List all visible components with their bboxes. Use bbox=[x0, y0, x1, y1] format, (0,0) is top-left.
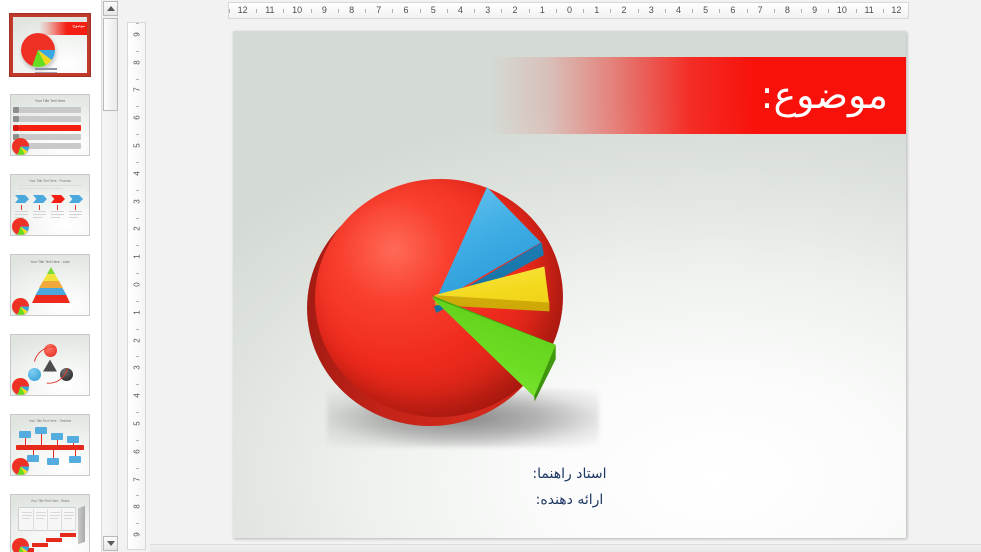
thumb1-title-text: موضوع: bbox=[72, 23, 85, 28]
vertical-ruler[interactable]: 9876543210123456789 bbox=[127, 22, 146, 550]
h-ruler-tick-13 bbox=[583, 9, 584, 13]
h-ruler-tick-8 bbox=[447, 9, 448, 13]
h-ruler-tick-24 bbox=[883, 9, 884, 13]
thumb7-step-4 bbox=[60, 531, 76, 537]
slide-title-text[interactable]: موضوع: bbox=[761, 73, 888, 117]
v-ruler-label-0: 9 bbox=[128, 30, 146, 39]
h-ruler-tick-4 bbox=[338, 9, 339, 13]
v-ruler-tick-0 bbox=[136, 23, 139, 24]
v-ruler-label-6: 3 bbox=[128, 197, 146, 206]
v-ruler-tick-6 bbox=[136, 190, 139, 191]
h-ruler-tick-3 bbox=[311, 9, 312, 13]
current-slide-canvas[interactable]: موضوع: استاد راهنما: ارائه دهنده: bbox=[233, 31, 906, 538]
thumb7-col-4 bbox=[62, 509, 76, 531]
v-ruler-label-11: 2 bbox=[128, 336, 146, 345]
slide-thumbnail-5[interactable] bbox=[10, 334, 90, 396]
h-ruler-label-7: 5 bbox=[424, 5, 442, 15]
v-ruler-tick-9 bbox=[136, 273, 139, 274]
v-ruler-label-9: 0 bbox=[128, 280, 146, 289]
v-ruler-label-4: 5 bbox=[128, 141, 146, 150]
h-ruler-label-1: 11 bbox=[261, 5, 279, 15]
scroll-up-button[interactable] bbox=[103, 1, 118, 16]
v-ruler-tick-4 bbox=[136, 134, 139, 135]
h-ruler-label-11: 1 bbox=[533, 5, 551, 15]
v-ruler-tick-7 bbox=[136, 218, 139, 219]
h-ruler-tick-21 bbox=[801, 9, 802, 13]
thumb4-band-1 bbox=[47, 267, 55, 274]
thumb6-box-7 bbox=[69, 456, 81, 463]
h-ruler-tick-5 bbox=[365, 9, 366, 13]
v-ruler-label-13: 4 bbox=[128, 391, 146, 400]
thumb4-band-3 bbox=[39, 281, 63, 288]
thumb3-caption-4 bbox=[69, 211, 82, 220]
thumb7-side-wall bbox=[78, 506, 85, 545]
thumb3-subtext bbox=[18, 185, 82, 189]
thumb6-stem-7 bbox=[75, 450, 76, 456]
thumb2-logo-pie-icon bbox=[12, 138, 29, 155]
slide-editing-area[interactable]: موضوع: استاد راهنما: ارائه دهنده: bbox=[150, 22, 981, 552]
h-ruler-label-6: 6 bbox=[397, 5, 415, 15]
v-ruler-tick-17 bbox=[136, 495, 139, 496]
slide-thumbnail-1[interactable]: موضوع: bbox=[10, 14, 90, 76]
slide-thumbnail-4[interactable]: Your Title Text Here - Lists bbox=[10, 254, 90, 316]
v-ruler-tick-5 bbox=[136, 162, 139, 163]
thumb6-logo-pie-icon bbox=[12, 458, 29, 475]
thumb7-col-3 bbox=[48, 509, 62, 531]
scroll-down-button[interactable] bbox=[103, 536, 118, 551]
h-ruler-tick-0 bbox=[229, 9, 230, 13]
thumb6-stem-1 bbox=[25, 438, 26, 445]
v-ruler-label-12: 3 bbox=[128, 363, 146, 372]
slide-thumbnail-3[interactable]: Your Title Text Here - Process bbox=[10, 174, 90, 236]
h-ruler-label-21: 9 bbox=[806, 5, 824, 15]
h-ruler-tick-16 bbox=[665, 9, 666, 13]
thumb6-box-4 bbox=[67, 436, 79, 443]
v-ruler-label-17: 8 bbox=[128, 502, 146, 511]
slide-thumbnail-2[interactable]: Your Title Text Here bbox=[10, 94, 90, 156]
h-ruler-label-12: 0 bbox=[561, 5, 579, 15]
thumb1-title-banner: موضوع: bbox=[39, 22, 87, 35]
v-ruler-label-15: 6 bbox=[128, 447, 146, 456]
h-ruler-tick-19 bbox=[747, 9, 748, 13]
v-ruler-label-16: 7 bbox=[128, 475, 146, 484]
v-ruler-label-18: 9 bbox=[128, 530, 146, 539]
v-ruler-tick-12 bbox=[136, 356, 139, 357]
h-ruler-label-10: 2 bbox=[506, 5, 524, 15]
thumb6-title: Your Title Text Here - Timeline bbox=[11, 419, 89, 423]
h-ruler-label-8: 4 bbox=[452, 5, 470, 15]
h-ruler-label-19: 7 bbox=[751, 5, 769, 15]
chevron-up-icon bbox=[107, 6, 115, 11]
h-ruler-tick-12 bbox=[556, 9, 557, 13]
slide-credits-block[interactable]: استاد راهنما: ارائه دهنده: bbox=[233, 461, 906, 513]
horizontal-ruler[interactable]: 1211109876543210123456789101112 bbox=[228, 2, 909, 19]
v-ruler-tick-13 bbox=[136, 384, 139, 385]
thumb6-box-3 bbox=[51, 433, 63, 440]
thumb4-band-2 bbox=[43, 274, 59, 281]
v-ruler-label-8: 1 bbox=[128, 252, 146, 261]
thumb7-text-panel bbox=[18, 507, 76, 531]
h-ruler-label-14: 2 bbox=[615, 5, 633, 15]
thumb7-col-2 bbox=[34, 509, 48, 531]
credit-presenter[interactable]: ارائه دهنده: bbox=[233, 487, 906, 513]
h-ruler-label-17: 5 bbox=[697, 5, 715, 15]
thumb6-box-1 bbox=[19, 431, 31, 438]
thumb6-timeline-spine bbox=[16, 445, 84, 450]
chevron-down-icon bbox=[107, 541, 115, 546]
v-ruler-tick-1 bbox=[136, 51, 139, 52]
h-ruler-tick-17 bbox=[692, 9, 693, 13]
thumb6-box-2 bbox=[35, 427, 47, 434]
v-ruler-label-1: 8 bbox=[128, 58, 146, 67]
thumb7-logo-pie-icon bbox=[12, 538, 29, 552]
h-ruler-label-16: 4 bbox=[669, 5, 687, 15]
h-ruler-tick-15 bbox=[638, 9, 639, 13]
v-ruler-label-10: 1 bbox=[128, 308, 146, 317]
thumb6-stem-3 bbox=[57, 440, 58, 445]
slide-thumbnail-7[interactable]: Your Title Text Here - Stairs bbox=[10, 494, 90, 552]
credit-supervisor[interactable]: استاد راهنما: bbox=[233, 461, 906, 487]
v-ruler-label-2: 7 bbox=[128, 85, 146, 94]
scrollbar-thumb[interactable] bbox=[103, 18, 118, 111]
thumb3-caption-3 bbox=[51, 211, 64, 220]
h-ruler-tick-10 bbox=[501, 9, 502, 13]
thumb4-title: Your Title Text Here - Lists bbox=[11, 260, 89, 264]
thumb6-box-5 bbox=[27, 455, 39, 462]
v-ruler-tick-15 bbox=[136, 440, 139, 441]
h-ruler-tick-23 bbox=[856, 9, 857, 13]
h-ruler-tick-1 bbox=[256, 9, 257, 13]
h-ruler-tick-20 bbox=[774, 9, 775, 13]
scrollbar-track[interactable] bbox=[103, 112, 116, 535]
v-ruler-label-3: 6 bbox=[128, 113, 146, 122]
h-ruler-label-18: 6 bbox=[724, 5, 742, 15]
h-ruler-label-20: 8 bbox=[778, 5, 796, 15]
thumb7-col-1 bbox=[20, 509, 34, 531]
h-ruler-tick-7 bbox=[420, 9, 421, 13]
thumb2-row-1 bbox=[19, 107, 81, 113]
h-ruler-label-22: 10 bbox=[833, 5, 851, 15]
thumbnail-pane-scrollbar[interactable] bbox=[101, 0, 118, 552]
h-ruler-tick-22 bbox=[828, 9, 829, 13]
thumb1-credit-line-2 bbox=[35, 72, 57, 74]
slide-title-banner[interactable]: موضوع: bbox=[490, 57, 906, 134]
thumb4-band-4 bbox=[36, 288, 67, 295]
thumb4-logo-pie-icon bbox=[12, 298, 29, 315]
thumb3-tick-3 bbox=[57, 205, 58, 210]
thumb3-tick-1 bbox=[21, 205, 22, 210]
thumb2-title: Your Title Text Here bbox=[11, 99, 89, 103]
thumb6-stem-4 bbox=[73, 443, 74, 445]
thumb1-pie-chart bbox=[21, 33, 55, 67]
thumb3-tick-2 bbox=[39, 205, 40, 210]
thumb3-caption-2 bbox=[33, 211, 46, 220]
thumb1-credit-line-1 bbox=[35, 68, 57, 70]
h-ruler-tick-18 bbox=[719, 9, 720, 13]
slide-thumbnail-6[interactable]: Your Title Text Here - Timeline bbox=[10, 414, 90, 476]
v-ruler-tick-18 bbox=[136, 523, 139, 524]
h-ruler-label-2: 10 bbox=[288, 5, 306, 15]
thumb2-row-4 bbox=[19, 134, 81, 140]
v-ruler-label-5: 4 bbox=[128, 169, 146, 178]
h-ruler-label-3: 9 bbox=[315, 5, 333, 15]
v-ruler-tick-8 bbox=[136, 245, 139, 246]
v-ruler-label-7: 2 bbox=[128, 224, 146, 233]
powerpoint-editor-window: موضوع: Your Title Text Here bbox=[0, 0, 981, 552]
pie-chart-graphic[interactable] bbox=[309, 153, 614, 453]
thumb4-pyramid bbox=[33, 267, 69, 305]
h-ruler-label-24: 12 bbox=[887, 5, 905, 15]
v-ruler-tick-3 bbox=[136, 106, 139, 107]
thumb3-logo-pie-icon bbox=[12, 218, 29, 235]
thumb7-title: Your Title Text Here - Stairs bbox=[11, 499, 89, 503]
h-ruler-label-13: 1 bbox=[588, 5, 606, 15]
workspace-bottom-strip bbox=[150, 544, 981, 552]
h-ruler-tick-9 bbox=[474, 9, 475, 13]
thumb3-tick-4 bbox=[75, 205, 76, 210]
thumb6-stem-5 bbox=[33, 450, 34, 455]
v-ruler-tick-10 bbox=[136, 301, 139, 302]
h-ruler-label-15: 3 bbox=[642, 5, 660, 15]
v-ruler-tick-11 bbox=[136, 329, 139, 330]
v-ruler-tick-2 bbox=[136, 79, 139, 80]
slide-thumbnail-pane[interactable]: موضوع: Your Title Text Here bbox=[0, 0, 101, 552]
h-ruler-label-5: 7 bbox=[370, 5, 388, 15]
h-ruler-label-0: 12 bbox=[234, 5, 252, 15]
v-ruler-label-14: 5 bbox=[128, 419, 146, 428]
thumb2-row-2 bbox=[19, 116, 81, 122]
v-ruler-tick-16 bbox=[136, 468, 139, 469]
h-ruler-tick-6 bbox=[392, 9, 393, 13]
h-ruler-tick-11 bbox=[529, 9, 530, 13]
h-ruler-tick-2 bbox=[283, 9, 284, 13]
h-ruler-label-9: 3 bbox=[479, 5, 497, 15]
thumb3-title: Your Title Text Here - Process bbox=[11, 179, 89, 183]
v-ruler-tick-14 bbox=[136, 412, 139, 413]
thumb5-logo-pie-icon bbox=[12, 378, 29, 395]
thumb6-stem-2 bbox=[41, 434, 42, 445]
thumb4-band-5 bbox=[32, 295, 70, 303]
thumb2-row-3 bbox=[19, 125, 81, 131]
thumb6-box-6 bbox=[47, 458, 59, 465]
h-ruler-label-4: 8 bbox=[343, 5, 361, 15]
thumb6-stem-6 bbox=[53, 450, 54, 458]
h-ruler-tick-14 bbox=[610, 9, 611, 13]
h-ruler-label-23: 11 bbox=[860, 5, 878, 15]
